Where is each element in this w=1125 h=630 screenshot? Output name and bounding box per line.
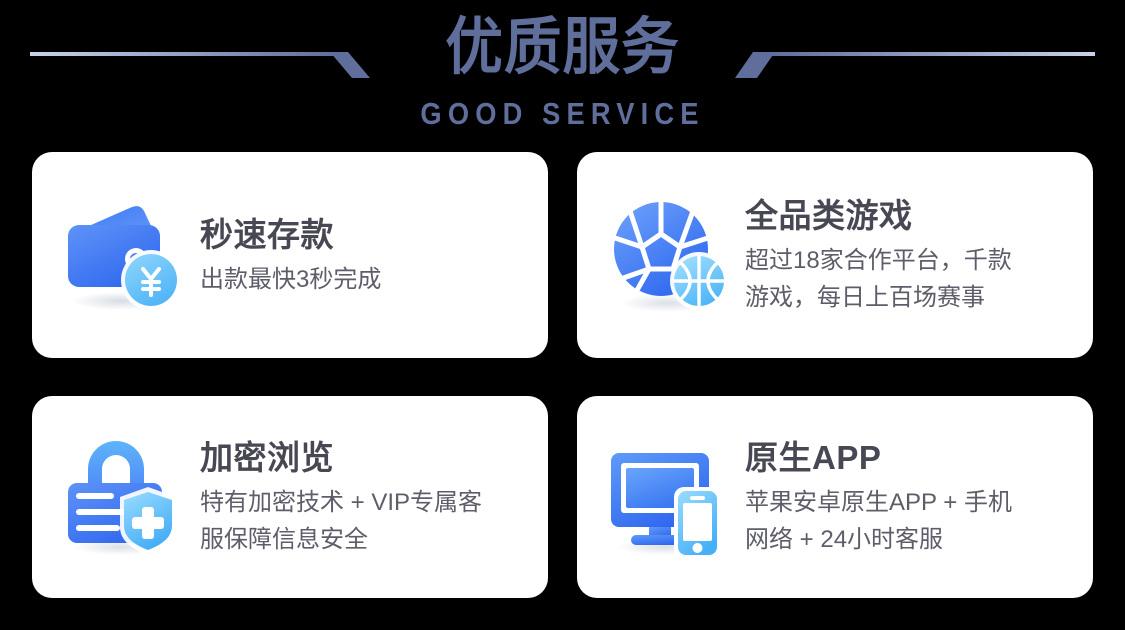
card-subtitle-line: 特有加密技术 + VIP专属客 xyxy=(200,484,530,521)
wallet-yen-icon xyxy=(58,189,190,321)
card-subtitle-line: 服保障信息安全 xyxy=(200,521,530,558)
card-title: 原生APP xyxy=(745,436,1075,480)
service-card-native-app[interactable]: 原生APP 苹果安卓原生APP + 手机 网络 + 24小时客服 xyxy=(577,396,1093,598)
service-card-deposit[interactable]: 秒速存款 出款最快3秒完成 xyxy=(32,152,548,358)
monitor-phone-icon xyxy=(603,431,735,563)
card-subtitle-line: 出款最快3秒完成 xyxy=(200,261,530,298)
good-service-panel: 优质服务 GOOD SERVICE xyxy=(0,0,1125,630)
soccer-basketball-icon xyxy=(603,189,735,321)
card-title: 加密浏览 xyxy=(200,436,530,480)
card-subtitle: 苹果安卓原生APP + 手机 网络 + 24小时客服 xyxy=(745,484,1075,558)
service-card-text: 全品类游戏 超过18家合作平台，千款 游戏，每日上百场赛事 xyxy=(745,194,1075,316)
lock-shield-icon xyxy=(58,431,190,563)
service-card-text: 加密浏览 特有加密技术 + VIP专属客 服保障信息安全 xyxy=(200,436,530,558)
card-subtitle-line: 网络 + 24小时客服 xyxy=(745,521,1075,558)
page-header: 优质服务 GOOD SERVICE xyxy=(0,0,1125,150)
page-subtitle: GOOD SERVICE xyxy=(68,96,1058,132)
service-card-text: 秒速存款 出款最快3秒完成 xyxy=(200,213,530,298)
card-subtitle-line: 游戏，每日上百场赛事 xyxy=(745,279,1075,316)
card-title: 全品类游戏 xyxy=(745,194,1075,238)
card-subtitle: 特有加密技术 + VIP专属客 服保障信息安全 xyxy=(200,484,530,558)
service-card-grid: 秒速存款 出款最快3秒完成 xyxy=(32,152,1093,598)
card-subtitle: 超过18家合作平台，千款 游戏，每日上百场赛事 xyxy=(745,242,1075,316)
card-subtitle: 出款最快3秒完成 xyxy=(200,261,530,298)
card-subtitle-line: 苹果安卓原生APP + 手机 xyxy=(745,484,1075,521)
service-card-games[interactable]: 全品类游戏 超过18家合作平台，千款 游戏，每日上百场赛事 xyxy=(577,152,1093,358)
service-card-text: 原生APP 苹果安卓原生APP + 手机 网络 + 24小时客服 xyxy=(745,436,1075,558)
card-title: 秒速存款 xyxy=(200,213,530,257)
card-subtitle-line: 超过18家合作平台，千款 xyxy=(745,242,1075,279)
page-title: 优质服务 xyxy=(39,8,1085,88)
service-card-encryption[interactable]: 加密浏览 特有加密技术 + VIP专属客 服保障信息安全 xyxy=(32,396,548,598)
